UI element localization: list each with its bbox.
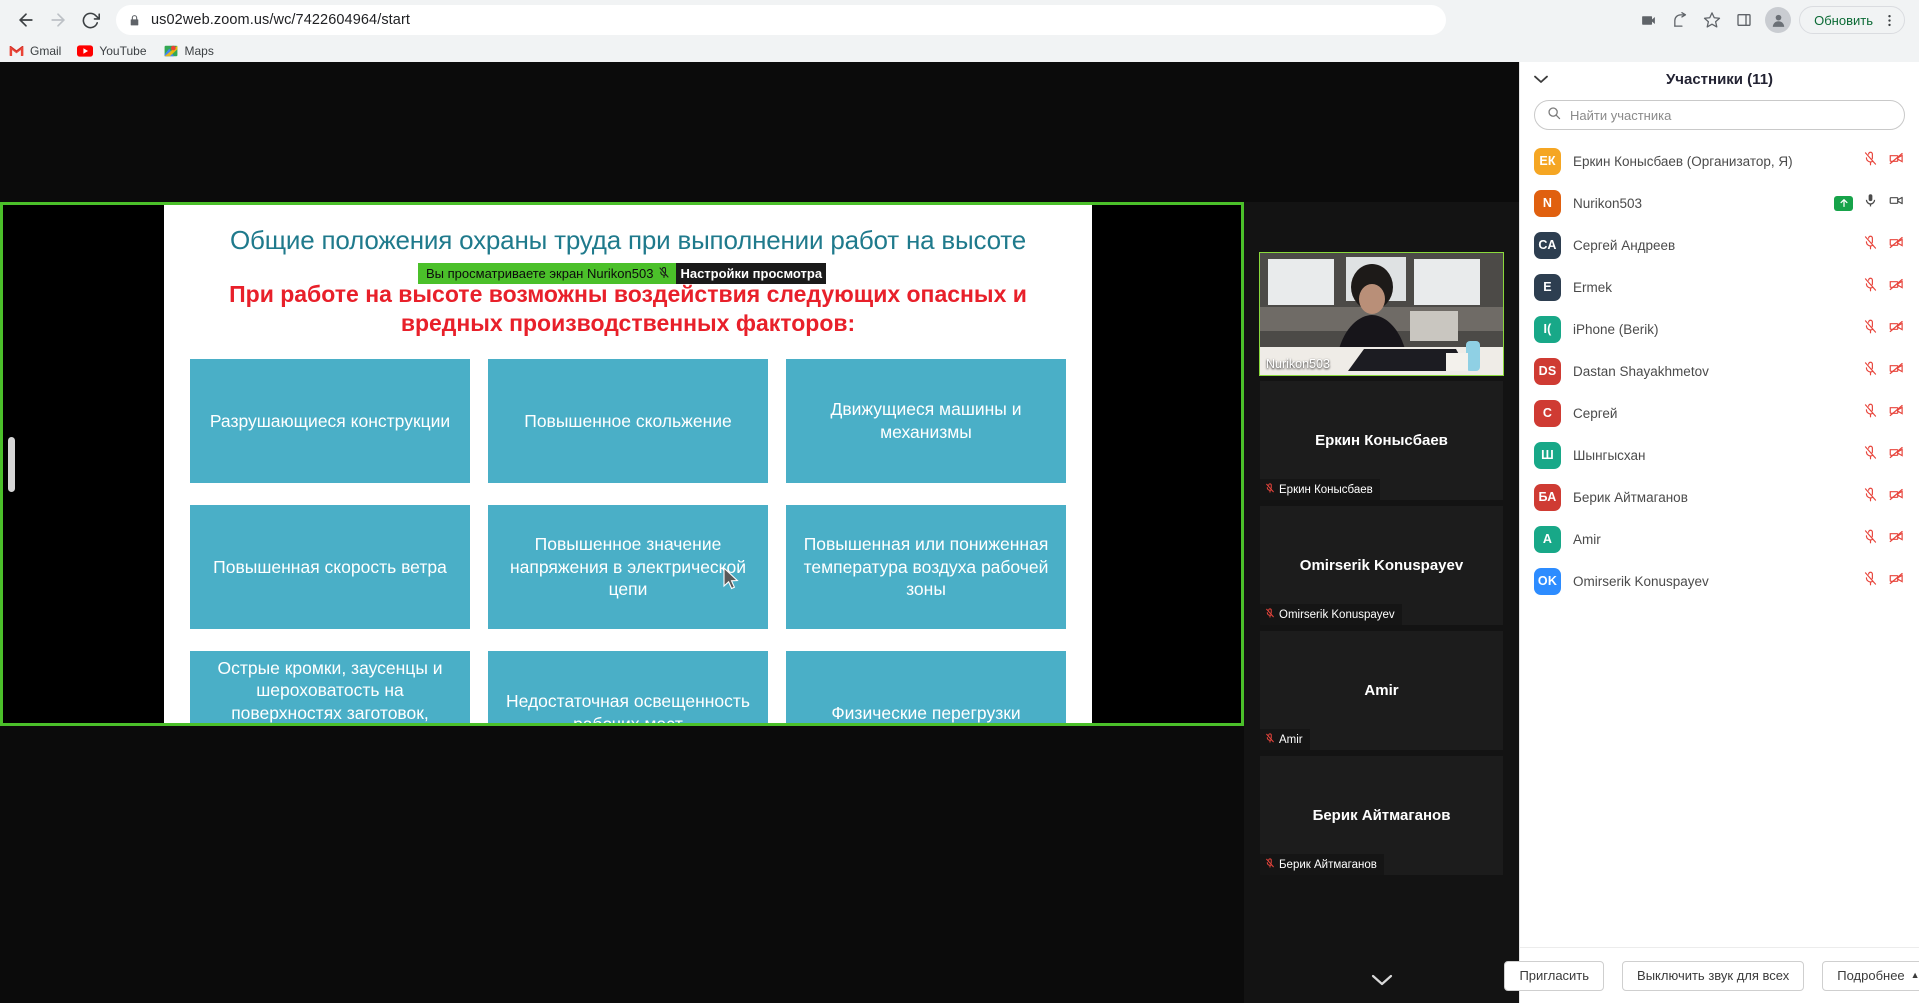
participant-name: Еркин Коныcбаев (Организатор, Я) [1573,154,1851,169]
google-maps-icon [163,43,179,59]
participants-header: Участники (11) [1520,62,1919,96]
mic-muted-icon[interactable] [1863,529,1878,549]
mute-all-button[interactable]: Выключить звук для всех [1622,961,1804,991]
more-button-label: Подробнее [1837,968,1904,983]
participant-row[interactable]: Ш Шынгысхан [1520,434,1919,476]
participant-row[interactable]: OK Omirserik Konuspayev [1520,560,1919,602]
participant-status-icons [1834,193,1905,213]
address-bar-url: us02web.zoom.us/wc/7422604964/start [151,12,410,28]
update-button-label: Обновить [1814,13,1873,28]
participant-status-icons [1863,151,1905,171]
mouse-cursor-icon [723,567,740,595]
toolbar-right-icons: Обновить [1633,5,1909,35]
more-button[interactable]: Подробнее ▲ [1822,961,1919,991]
mic-muted-icon [1265,857,1275,872]
participant-status-icons [1863,361,1905,381]
avatar: ЕК [1534,148,1561,175]
screen-share-badge-icon [1834,196,1853,211]
camera-off-icon[interactable] [1888,487,1905,507]
invite-button[interactable]: Пригласить [1504,961,1604,991]
participant-row[interactable]: A Amir [1520,518,1919,560]
bookmark-star-icon[interactable] [1697,5,1727,35]
camera-off-icon[interactable] [1888,361,1905,381]
caret-up-icon: ▲ [1911,971,1919,980]
mic-muted-icon [1265,482,1275,497]
view-options-button[interactable]: Настройки просмотра [676,263,826,284]
participant-name: Omirserik Konuspayev [1573,574,1851,589]
mic-muted-icon[interactable] [1863,445,1878,465]
video-tile[interactable]: Nurikon503 [1260,253,1503,375]
search-icon [1547,106,1561,125]
camera-off-icon[interactable] [1888,403,1905,423]
hazard-box: Повышенное скольжение [488,359,768,483]
chevron-down-icon[interactable] [1534,71,1548,89]
video-tile-badge: Берик Айтмаганов [1260,854,1384,875]
video-tile[interactable]: Берик Айтмаганов Берик Айтмаганов [1260,756,1503,875]
address-bar[interactable]: us02web.zoom.us/wc/7422604964/start [116,5,1446,35]
mic-muted-icon[interactable] [1863,319,1878,339]
participant-name: Dastan Shayakhmetov [1573,364,1851,379]
participant-status-icons [1863,571,1905,591]
reload-icon[interactable] [74,4,106,36]
mic-muted-icon[interactable] [1863,487,1878,507]
bookmark-label: Maps [185,44,214,58]
video-tile-badge: Omirserik Konuspayev [1260,604,1402,625]
video-tile-label: Nurikon503 [1266,357,1330,371]
participant-status-icons [1863,319,1905,339]
meeting-stage: Общие положения охраны труда при выполне… [0,62,1519,1003]
slide-title: Общие положения охраны труда при выполне… [164,205,1092,256]
mic-muted-icon[interactable] [1863,361,1878,381]
hazard-box: Недостаточная освещенность рабочих мест [488,651,768,723]
participants-footer: Пригласить Выключить звук для всех Подро… [1520,947,1919,1003]
share-status-text: Вы просматриваете экран Nurikon503 [426,266,653,281]
lock-icon [128,14,141,27]
hazard-box: Разрушающиеся конструкции [190,359,470,483]
gmail-icon [8,43,24,59]
avatar: DS [1534,358,1561,385]
participant-status-icons [1863,277,1905,297]
participant-status-icons [1863,529,1905,549]
browser-chrome: us02web.zoom.us/wc/7422604964/start Обно… [0,0,1919,62]
youtube-icon [77,43,93,59]
video-tile[interactable]: Еркин Коныcбаев Еркин Коныcбаев [1260,381,1503,500]
bookmark-gmail[interactable]: Gmail [8,43,61,59]
share-status-banner: Вы просматриваете экран Nurikon503 Настр… [418,263,826,284]
forward-arrow-icon[interactable] [42,4,74,36]
video-tile[interactable]: Amir Amir [1260,631,1503,750]
video-tile-badge: Amir [1260,729,1310,750]
avatar: СА [1534,232,1561,259]
participant-name: Сергей [1573,406,1851,421]
participant-name: iPhone (Berik) [1573,322,1851,337]
mic-muted-icon[interactable] [1863,151,1878,171]
three-dot-menu-icon[interactable] [1879,13,1900,28]
participant-name: Ermek [1573,280,1851,295]
filmstrip-scrollbar[interactable] [8,437,15,492]
participant-search-placeholder: Найти участника [1570,108,1671,123]
camera-on-icon[interactable] [1888,193,1905,213]
camera-off-icon[interactable] [1888,319,1905,339]
video-tile-badge-name: Еркин Коныcбаев [1279,484,1373,496]
avatar: C [1534,400,1561,427]
side-panel-icon[interactable] [1729,5,1759,35]
participant-status-icons [1863,445,1905,465]
mic-muted-icon[interactable] [1863,277,1878,297]
mic-on-icon[interactable] [1863,193,1878,213]
mic-muted-icon[interactable] [1863,235,1878,255]
video-tile-badge: Еркин Коныcбаев [1260,479,1380,500]
participants-title: Участники (11) [1520,71,1919,88]
share-status-text-wrap: Вы просматриваете экран Nurikon503 [418,263,676,284]
mic-muted-icon[interactable] [1863,403,1878,423]
participant-name: Amir [1573,532,1851,547]
bookmarks-bar: Gmail YouTube Maps [0,40,1919,62]
participant-row[interactable]: E Ermek [1520,266,1919,308]
participant-name: Берик Айтмаганов [1573,490,1851,505]
camera-off-icon[interactable] [1888,235,1905,255]
participant-row[interactable]: БА Берик Айтмаганов [1520,476,1919,518]
back-arrow-icon[interactable] [10,4,42,36]
avatar: A [1534,526,1561,553]
participant-row[interactable]: СА Сергей Андреев [1520,224,1919,266]
video-tile-badge-name: Omirserik Konuspayev [1279,609,1395,621]
zoom-meeting-app: Общие положения охраны труда при выполне… [0,62,1919,1003]
camera-off-icon[interactable] [1888,445,1905,465]
participant-name: Nurikon503 [1573,196,1822,211]
participant-status-icons [1863,403,1905,423]
participant-row[interactable]: ЕК Еркин Коныcбаев (Организатор, Я) [1520,140,1919,182]
slide-subtitle: При работе на высоте возможны воздействи… [164,280,1092,339]
browser-toolbar: us02web.zoom.us/wc/7422604964/start Обно… [0,0,1919,40]
avatar: I( [1534,316,1561,343]
chevron-down-icon[interactable] [1244,973,1519,987]
hazard-grid: Разрушающиеся конструкции Повышенное ско… [164,359,1092,723]
participant-name: Сергей Андреев [1573,238,1851,253]
participant-row[interactable]: I( iPhone (Berik) [1520,308,1919,350]
avatar: N [1534,190,1561,217]
participant-search-input[interactable]: Найти участника [1534,100,1905,130]
bookmark-maps[interactable]: Maps [163,43,214,59]
bookmark-youtube[interactable]: YouTube [77,43,146,59]
avatar: OK [1534,568,1561,595]
video-tile-badge-name: Берик Айтмаганов [1279,859,1377,871]
mic-muted-icon [658,266,670,282]
camera-off-icon[interactable] [1888,529,1905,549]
participant-status-icons [1863,487,1905,507]
hazard-box: Физические перегрузки [786,651,1066,723]
avatar: БА [1534,484,1561,511]
mic-muted-icon [1265,732,1275,747]
hazard-box: Повышенная скорость ветра [190,505,470,629]
bookmark-label: Gmail [30,44,61,58]
update-button[interactable]: Обновить [1799,6,1905,34]
participants-panel: Участники (11) Найти участника ЕК Еркин … [1519,62,1919,1003]
video-tile[interactable]: Omirserik Konuspayev Omirserik Konuspaye… [1260,506,1503,625]
camera-off-icon[interactable] [1888,277,1905,297]
participant-row[interactable]: DS Dastan Shayakhmetov [1520,350,1919,392]
mic-muted-icon [1265,607,1275,622]
hazard-box: Острые кромки, заусенцы и шероховатость … [190,651,470,723]
avatar: E [1534,274,1561,301]
participants-list[interactable]: ЕК Еркин Коныcбаев (Организатор, Я) N Nu… [1520,138,1919,947]
screencast-icon[interactable] [1633,5,1663,35]
share-icon[interactable] [1665,5,1695,35]
video-tile-badge-name: Amir [1279,734,1303,746]
participant-row[interactable]: C Сергей [1520,392,1919,434]
participant-status-icons [1863,235,1905,255]
mic-muted-icon[interactable] [1863,571,1878,591]
avatar: Ш [1534,442,1561,469]
profile-avatar-icon[interactable] [1765,7,1791,33]
camera-off-icon[interactable] [1888,151,1905,171]
hazard-box: Движущиеся машины и механизмы [786,359,1066,483]
hazard-box: Повышенная или пониженная температура во… [786,505,1066,629]
camera-off-icon[interactable] [1888,571,1905,591]
bookmark-label: YouTube [99,44,146,58]
participant-row[interactable]: N Nurikon503 [1520,182,1919,224]
participant-name: Шынгысхан [1573,448,1851,463]
video-filmstrip: Nurikon503 Еркин Коныcбаев Еркин Коныcба… [1244,202,1519,1003]
